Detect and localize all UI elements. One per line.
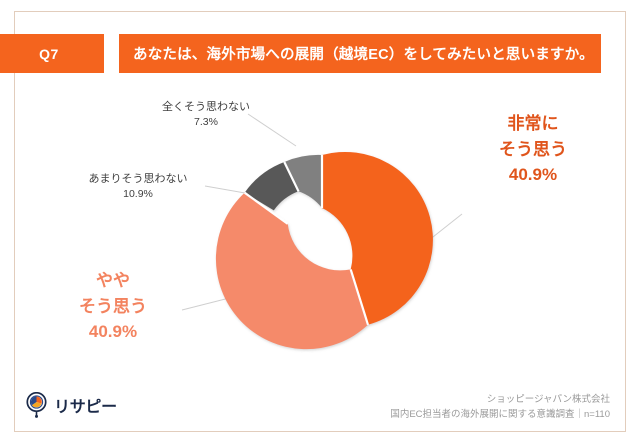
question-number-badge: Q7 <box>0 34 104 73</box>
question-title-bar: あなたは、海外市場への展開（越境EC）をしてみたいと思いますか。 <box>119 34 601 73</box>
question-header: Q7 あなたは、海外市場への展開（越境EC）をしてみたいと思いますか。 <box>0 34 601 73</box>
slide-footer: リサピー ショッピージャパン株式会社 国内EC担当者の海外展開に関する意識調査｜… <box>0 384 640 432</box>
brand-logo-text: リサピー <box>54 393 117 417</box>
callout-not-much-label: あまりそう思わない <box>58 172 218 187</box>
callout-very-much-line2: そう思う <box>448 137 618 163</box>
callout-not-at-all-percent: 7.3% <box>126 115 286 129</box>
question-number-label: Q7 <box>39 46 59 62</box>
callout-very-much-line1: 非常に <box>448 111 618 137</box>
donut-chart: 非常に そう思う 40.9% やや そう思う 40.9% あまりそう思わない 1… <box>0 86 640 376</box>
callout-not-much-percent: 10.9% <box>58 187 218 201</box>
callout-somewhat: やや そう思う 40.9% <box>28 268 198 345</box>
page-title: あなたは、海外市場への展開（越境EC）をしてみたいと思いますか。 <box>119 43 594 64</box>
callout-very-much-percent: 40.9% <box>448 162 618 188</box>
callout-somewhat-line1: やや <box>28 268 198 294</box>
callout-not-at-all-label: 全くそう思わない <box>126 100 286 115</box>
callout-somewhat-percent: 40.9% <box>28 319 198 345</box>
footer-company: ショッピージャパン株式会社 <box>390 393 610 408</box>
donut-segments <box>216 152 433 349</box>
brand-logo: リサピー <box>25 392 117 418</box>
pin-pie-chart-icon <box>25 392 48 418</box>
callout-not-much: あまりそう思わない 10.9% <box>58 172 218 202</box>
footer-credits: ショッピージャパン株式会社 国内EC担当者の海外展開に関する意識調査｜n=110 <box>390 393 610 422</box>
callout-somewhat-line2: そう思う <box>28 294 198 320</box>
callout-not-at-all: 全くそう思わない 7.3% <box>126 100 286 130</box>
slide-canvas: Q7 あなたは、海外市場への展開（越境EC）をしてみたいと思いますか。 <box>0 0 640 443</box>
footer-survey: 国内EC担当者の海外展開に関する意識調査｜n=110 <box>390 408 610 423</box>
callout-very-much: 非常に そう思う 40.9% <box>448 111 618 188</box>
